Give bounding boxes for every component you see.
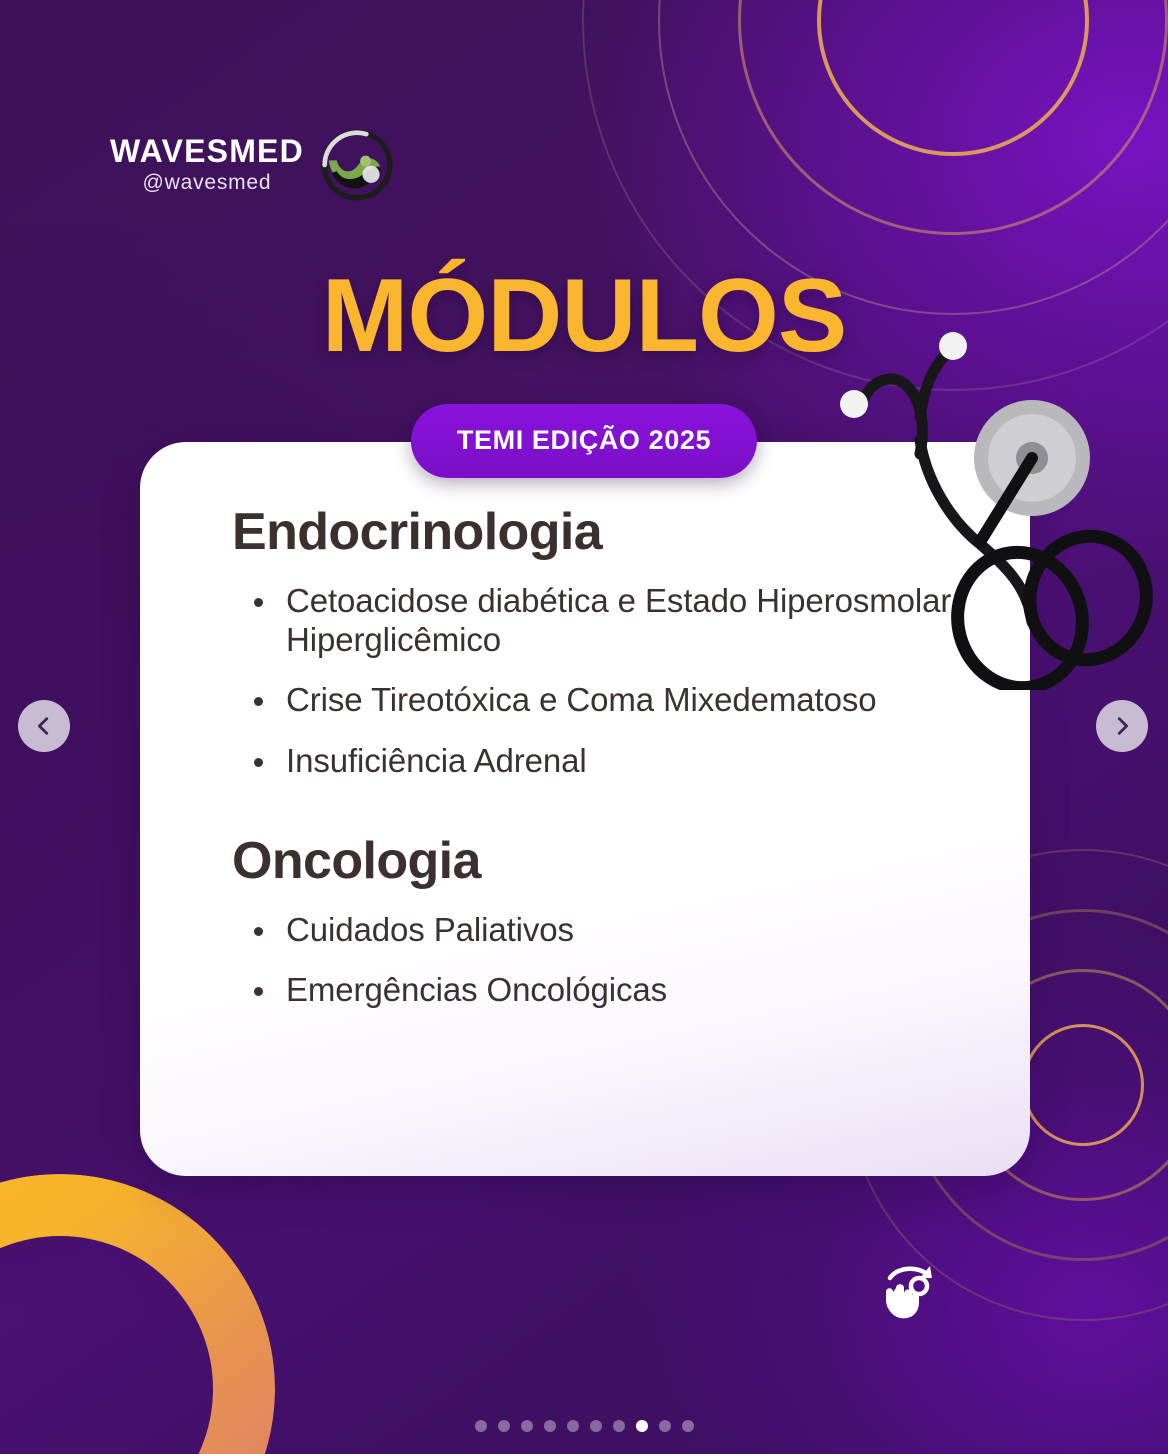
brand-logo: WAVESMED @wavesmed xyxy=(110,126,396,204)
carousel-dot[interactable] xyxy=(659,1420,671,1432)
ring-decoration xyxy=(1022,1024,1144,1146)
edition-badge: TEMI EDIÇÃO 2025 xyxy=(411,404,757,478)
list-item: Crise Tireotóxica e Coma Mixedematoso xyxy=(232,681,970,720)
slide-canvas: WAVESMED @wavesmed MÓDULOS TEMI EDIÇÃO 2… xyxy=(0,0,1168,1454)
carousel-dot[interactable] xyxy=(590,1420,602,1432)
list-item: Emergências Oncológicas xyxy=(232,971,970,1010)
carousel-next-button[interactable] xyxy=(1096,700,1148,752)
section-list-endocrinologia: Cetoacidose diabética e Estado Hiperosmo… xyxy=(232,582,970,780)
carousel-dot[interactable] xyxy=(613,1420,625,1432)
carousel-dot[interactable] xyxy=(567,1420,579,1432)
swipe-hand-gesture-icon xyxy=(872,1258,944,1330)
carousel-dot[interactable] xyxy=(682,1420,694,1432)
ring-decoration xyxy=(817,0,1089,156)
carousel-prev-button[interactable] xyxy=(18,700,70,752)
brand-name: WAVESMED xyxy=(110,135,304,169)
orange-donut-decoration xyxy=(0,1174,275,1454)
list-item: Cetoacidose diabética e Estado Hiperosmo… xyxy=(232,582,970,659)
list-item: Cuidados Paliativos xyxy=(232,911,970,950)
brand-handle: @wavesmed xyxy=(143,170,272,195)
carousel-dot[interactable] xyxy=(475,1420,487,1432)
chevron-left-icon xyxy=(33,715,55,737)
brand-logo-text: WAVESMED @wavesmed xyxy=(110,135,304,196)
carousel-dots xyxy=(0,1420,1168,1432)
list-item: Insuficiência Adrenal xyxy=(232,742,970,781)
ring-decoration xyxy=(738,0,1168,235)
modules-card-content: Endocrinologia Cetoacidose diabética e E… xyxy=(140,442,1030,1010)
modules-card: Endocrinologia Cetoacidose diabética e E… xyxy=(140,442,1030,1176)
carousel-dot[interactable] xyxy=(498,1420,510,1432)
section-title-oncologia: Oncologia xyxy=(232,833,970,889)
page-title: MÓDULOS xyxy=(0,264,1168,368)
section-list-oncologia: Cuidados Paliativos Emergências Oncológi… xyxy=(232,911,970,1010)
carousel-dot[interactable] xyxy=(521,1420,533,1432)
chevron-right-icon xyxy=(1111,715,1133,737)
carousel-dot[interactable] xyxy=(636,1420,648,1432)
wave-circle-logo-icon xyxy=(318,126,396,204)
carousel-dot[interactable] xyxy=(544,1420,556,1432)
section-title-endocrinologia: Endocrinologia xyxy=(232,504,970,560)
